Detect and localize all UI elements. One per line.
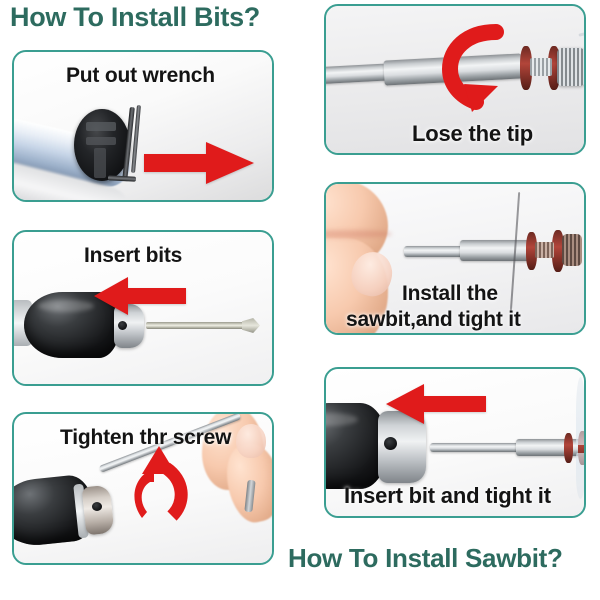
arrow-curved-ccw-icon: [120, 446, 194, 524]
panel-install-sawbit[interactable]: Install the sawbit,and tight it: [324, 182, 586, 335]
chuck-socket-hole: [384, 437, 397, 450]
caption-tighten-screw: Tighten thr screw: [60, 426, 231, 450]
fingernail: [236, 424, 266, 458]
handle-highlight: [38, 300, 94, 312]
arrow-left-icon: [92, 276, 188, 316]
arrow-right-icon: [144, 140, 256, 186]
end-nut: [557, 48, 584, 86]
threaded-section: [535, 242, 554, 258]
section-title-install-sawbit: How To Install Sawbit?: [288, 543, 563, 574]
chuck-socket-hole: [118, 321, 127, 330]
arrow-left-icon: [384, 383, 488, 425]
caption-lose-the-tip: Lose the tip: [412, 121, 533, 147]
panel-put-out-wrench[interactable]: Put out wrench: [12, 50, 274, 202]
chuck-slot-bottom: [94, 148, 106, 178]
saw-blade: [576, 377, 584, 445]
caption-install-sawbit-line2: sawbit,and tight it: [346, 308, 521, 332]
section-title-install-bits: How To Install Bits?: [10, 2, 260, 33]
chuck-slot-top: [86, 122, 116, 131]
saw-blade-lower: [576, 453, 584, 499]
panel-tighten-screw[interactable]: Tighten thr screw: [12, 412, 274, 565]
collar-washer-inner: [564, 433, 573, 463]
caption-insert-bit-tight: Insert bit and tight it: [344, 483, 551, 509]
arrow-curved-rotate-icon: [442, 24, 528, 114]
panel-lose-the-tip[interactable]: Lose the tip: [324, 4, 586, 155]
caption-install-sawbit-line1: Install the: [402, 282, 498, 306]
caption-put-out-wrench: Put out wrench: [66, 64, 215, 88]
sawbit-shaft-thick: [460, 240, 532, 261]
panel-insert-bits[interactable]: Insert bits: [12, 230, 274, 386]
chuck-slot-mid: [86, 137, 116, 145]
infographic-canvas: How To Install Bits?: [0, 0, 600, 600]
caption-insert-bits: Insert bits: [84, 244, 182, 268]
threaded-section: [530, 58, 552, 76]
driver-bit: [146, 322, 250, 329]
end-nut: [562, 234, 582, 266]
chuck-set-screw: [92, 502, 102, 511]
panel-insert-bit-tight[interactable]: Insert bit and tight it: [324, 367, 586, 518]
